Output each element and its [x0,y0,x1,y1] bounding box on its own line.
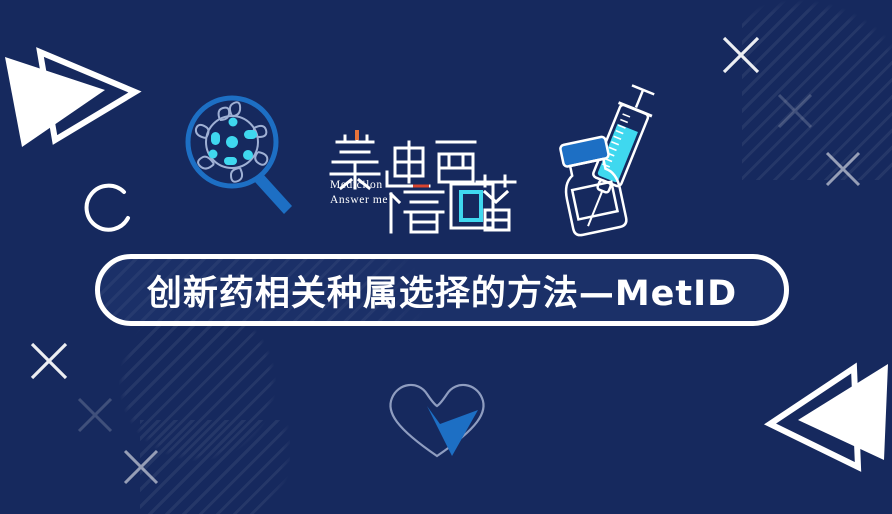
heart-pulse-icon [382,372,492,464]
cross-mark-icon [24,336,74,386]
arc-icon [78,180,140,242]
syringe-vial-group [552,82,672,242]
cross-mark-icon [118,444,164,490]
triangle-pair-left-icon [762,362,892,512]
magnifier-virus-icon [182,92,302,220]
cross-mark-icon [820,146,866,192]
banner-root: Medicilon Answer me 创新药相关种属选择的方法—MetID [0,0,892,514]
brand-logo-english: Medicilon Answer me [330,178,388,208]
brand-tagline-en: Answer me [330,193,388,208]
cross-mark-icon [72,392,118,438]
diagonal-stripes-bottom-left [140,420,290,514]
vial-icon [556,135,628,236]
diagonal-stripes-top-right [742,0,892,180]
page-title: 创新药相关种属选择的方法—MetID [147,265,737,316]
cross-mark-icon [772,88,818,134]
cross-mark-icon [716,30,766,80]
syringe-icon [571,82,660,233]
title-pill: 创新药相关种属选择的方法—MetID [95,254,789,326]
brand-name-en: Medicilon [330,178,388,193]
triangle-pair-right-icon [0,22,150,152]
brand-logo: Medicilon Answer me [325,128,520,238]
logo-cyan-accent [461,192,481,220]
